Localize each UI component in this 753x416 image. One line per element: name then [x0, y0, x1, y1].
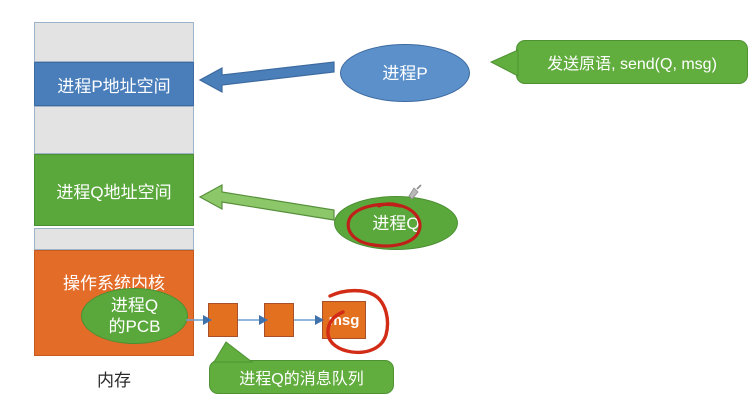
pcb-q-label: 进程Q 的PCB [109, 295, 161, 337]
callout-send-primitive: 发送原语, send(Q, msg) [516, 40, 748, 84]
arrow-q-to-memory [200, 185, 334, 220]
memory-block-process-q-label: 进程Q地址空间 [56, 178, 171, 203]
queue-box-msg-label: msg [329, 312, 360, 329]
process-p-label: 进程P [382, 63, 427, 84]
queue-box-msg: msg [322, 301, 366, 339]
callout-send-primitive-tail [491, 50, 518, 76]
memory-block-process-p: 进程P地址空间 [34, 62, 194, 106]
process-q-ellipse: 进程Q [334, 196, 458, 250]
process-q-label: 进程Q [372, 213, 419, 234]
memory-block-empty-lower [34, 228, 194, 250]
arrow-p-to-memory [200, 62, 334, 92]
callout-send-primitive-label: 发送原语, send(Q, msg) [547, 50, 717, 74]
memory-block-process-p-label: 进程P地址空间 [57, 72, 170, 97]
memory-block-empty-top [34, 22, 194, 62]
memory-caption: 内存 [34, 366, 194, 391]
queue-connector-arrows [186, 315, 324, 325]
diagram-canvas: 进程P地址空间 进程Q地址空间 操作系统内核 的 内存 进程Q 的PCB 进程P… [0, 0, 753, 416]
callout-message-queue-label: 进程Q的消息队列 [239, 365, 363, 389]
queue-box-1 [208, 303, 238, 337]
pcb-q-ellipse: 进程Q 的PCB [81, 288, 188, 344]
memory-block-empty-middle [34, 106, 194, 154]
memory-block-process-q: 进程Q地址空间 [34, 154, 194, 226]
queue-box-2 [264, 303, 294, 337]
callout-message-queue-tail [214, 342, 252, 362]
callout-message-queue: 进程Q的消息队列 [209, 360, 394, 394]
process-p-ellipse: 进程P [340, 44, 470, 102]
